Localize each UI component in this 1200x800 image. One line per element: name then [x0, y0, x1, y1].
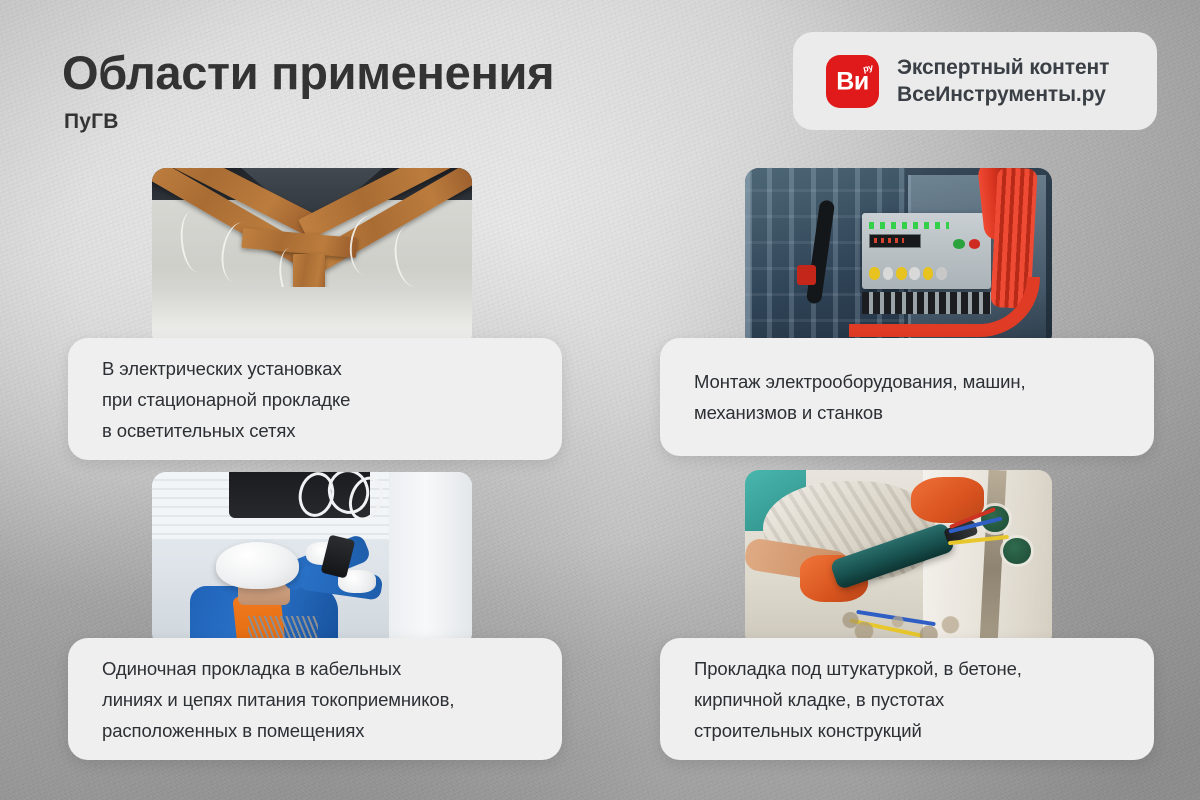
card-text-line: в осветительных сетях: [102, 415, 528, 446]
card-hidden-laying: Прокладка под штукатуркой, в бетоне, кир…: [660, 638, 1154, 760]
card-text-line: строительных конструкций: [694, 715, 1120, 746]
brand-text-block: Экспертный контент ВсеИнструменты.ру: [897, 56, 1109, 107]
vseinstrumenty-logo-icon: Ви ру: [826, 55, 879, 108]
card-cable-lines: Одиночная прокладка в кабельных линиях и…: [68, 638, 562, 760]
card-text-line: при стационарной прокладке: [102, 384, 528, 415]
card-text-line: линиях и цепях питания токоприемников,: [102, 684, 528, 715]
card-text-line: Одиночная прокладка в кабельных: [102, 653, 528, 684]
attic-rafters-wiring-photo: [152, 168, 472, 348]
card-text-line: Монтаж электрооборудования, машин,: [694, 366, 1120, 397]
wall-drilling-wiring-photo: [745, 470, 1052, 648]
card-text-line: расположенных в помещениях: [102, 715, 528, 746]
brand-line-1: Экспертный контент: [897, 56, 1109, 80]
electrician-ceiling-photo: [152, 472, 472, 647]
industrial-control-panel-photo: [745, 168, 1052, 348]
brand-line-2: ВсеИнструменты.ру: [897, 83, 1109, 107]
card-text-line: механизмов и станков: [694, 397, 1120, 428]
infographic-slide: Области применения ПуГВ Ви ру Экспертный…: [0, 0, 1200, 800]
brand-badge[interactable]: Ви ру Экспертный контент ВсеИнструменты.…: [793, 32, 1157, 130]
card-text-line: Прокладка под штукатуркой, в бетоне,: [694, 653, 1120, 684]
page-title: Области применения: [62, 45, 554, 100]
logo-superscript-text: ру: [862, 62, 874, 74]
card-equipment-assembly: Монтаж электрооборудования, машин, механ…: [660, 338, 1154, 456]
card-text-line: кирпичной кладке, в пустотах: [694, 684, 1120, 715]
card-lighting-networks: В электрических установках при стационар…: [68, 338, 562, 460]
card-text-line: В электрических установках: [102, 353, 528, 384]
page-subtitle: ПуГВ: [64, 110, 119, 134]
